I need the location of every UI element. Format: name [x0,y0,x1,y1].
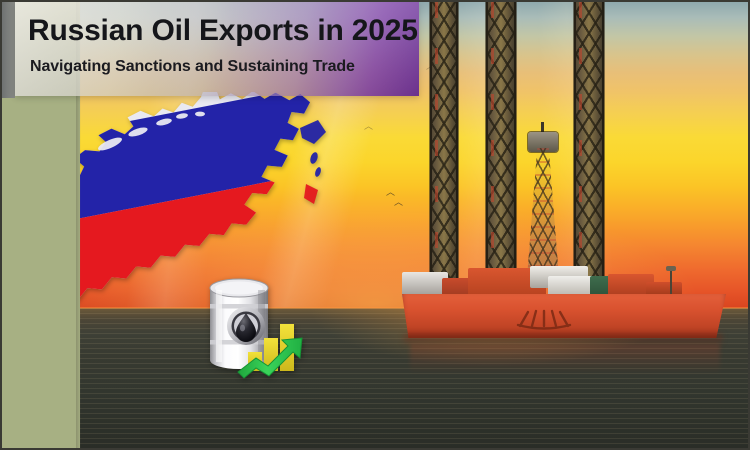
oil-barrel-svg [194,270,312,382]
grey-accent-strip [2,2,15,98]
leg-red-stripe [435,2,438,290]
hull-logo-icon [514,308,574,330]
derrick-lattice [527,148,559,278]
leg-red-stripe [491,2,494,302]
bird-icon: ︿ [364,122,373,131]
rig-leg-icon [574,2,604,302]
deck-equipment [402,264,747,298]
rig-mast-light [666,266,676,271]
hull-reflection [410,344,720,374]
bird-icon: ︿ [394,198,403,207]
rig-hull [402,264,747,356]
poster-canvas: ︿ ︿ ︿ ︿ [0,0,750,450]
page-subtitle: Navigating Sanctions and Sustaining Trad… [30,58,410,76]
rig-leg-icon [430,2,458,290]
bird-icon: ︿ [386,188,395,197]
map-kamchatka [304,184,318,204]
leg-red-stripe [579,2,582,302]
oil-barrel-growth-badge [194,270,312,382]
page-title: Russian Oil Exports in 2025 [28,14,410,48]
oil-drop-emblem [227,307,265,345]
map-east-islands [300,120,326,178]
rig-leg-icon [486,2,516,302]
drilling-derrick-icon [514,120,572,285]
